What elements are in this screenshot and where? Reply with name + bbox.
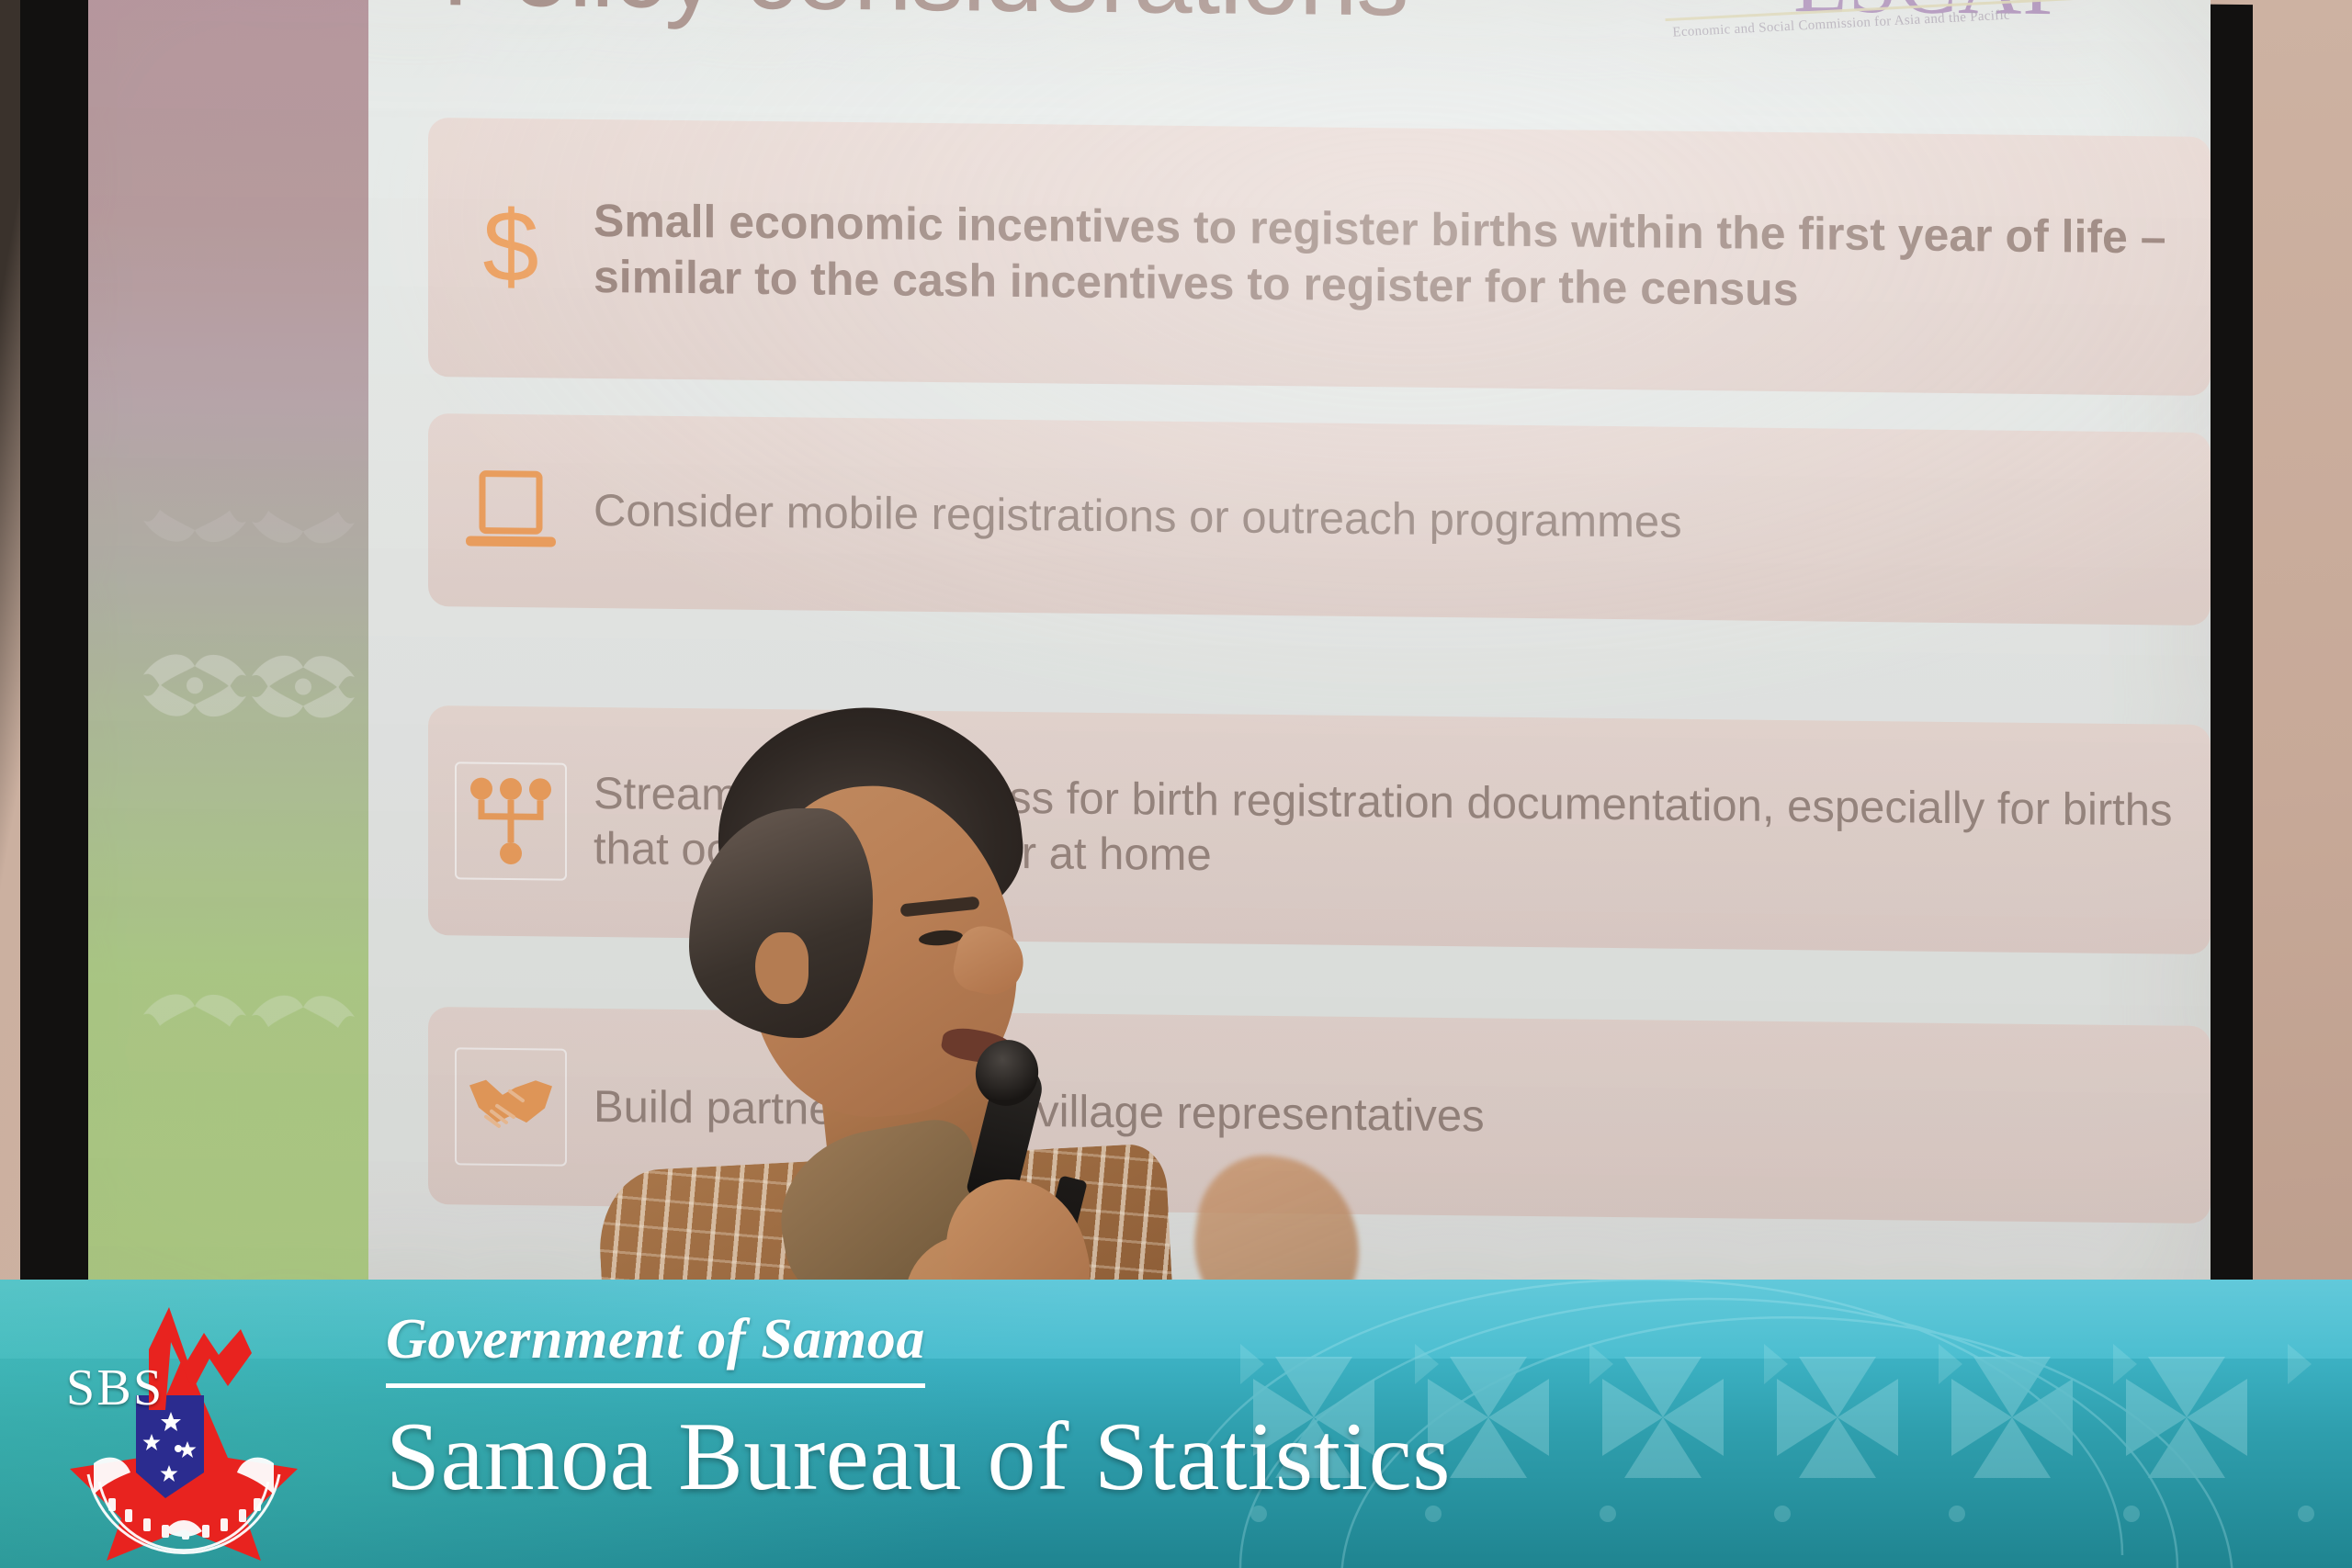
slide-bullet-2-text: Consider mobile registrations or outreac… [594, 484, 2211, 557]
banner-title: Samoa Bureau of Statistics [386, 1408, 1672, 1506]
handshake-plate [455, 1047, 567, 1166]
handshake-glyph [466, 1074, 556, 1139]
screenshot-stage: BUREAU OF STATISTICS ESCAP Economic and … [0, 0, 2352, 1568]
svg-text:$: $ [482, 193, 538, 304]
speaker-ear [755, 932, 808, 1004]
slide-bullet-1: $ Small economic incentives to register … [428, 118, 2211, 396]
slide-bullet-1-text: Small economic incentives to register bi… [594, 193, 2211, 322]
banner-subtitle: Government of Samoa [386, 1307, 925, 1388]
dollar-sign-glyph: $ [472, 193, 549, 304]
sbs-crest-graphic [57, 1302, 305, 1561]
slide-title: Policy considerations [442, 0, 1408, 40]
dollar-sign-icon: $ [428, 192, 594, 304]
org-chart-glyph [469, 775, 553, 866]
sbs-crest-label: SBS [66, 1359, 164, 1417]
tapa-motif-pattern-icon [88, 0, 368, 1292]
sbs-crest-logo: SBS [57, 1302, 305, 1561]
escap-logo: ESCAP Economic and Social Commission for… [1793, 0, 2188, 62]
laptop-glyph [460, 466, 561, 555]
laptop-icon [428, 466, 594, 556]
slide-side-band: BUREAU OF STATISTICS [88, 0, 368, 1292]
slide-bullet-2: Consider mobile registrations or outreac… [428, 413, 2211, 626]
bottom-banner: SBS Government of Samoa Samoa Bureau of … [0, 1280, 2352, 1568]
banner-wordmark: Government of Samoa Samoa Bureau of Stat… [386, 1307, 1672, 1506]
org-chart-plate [455, 761, 567, 880]
